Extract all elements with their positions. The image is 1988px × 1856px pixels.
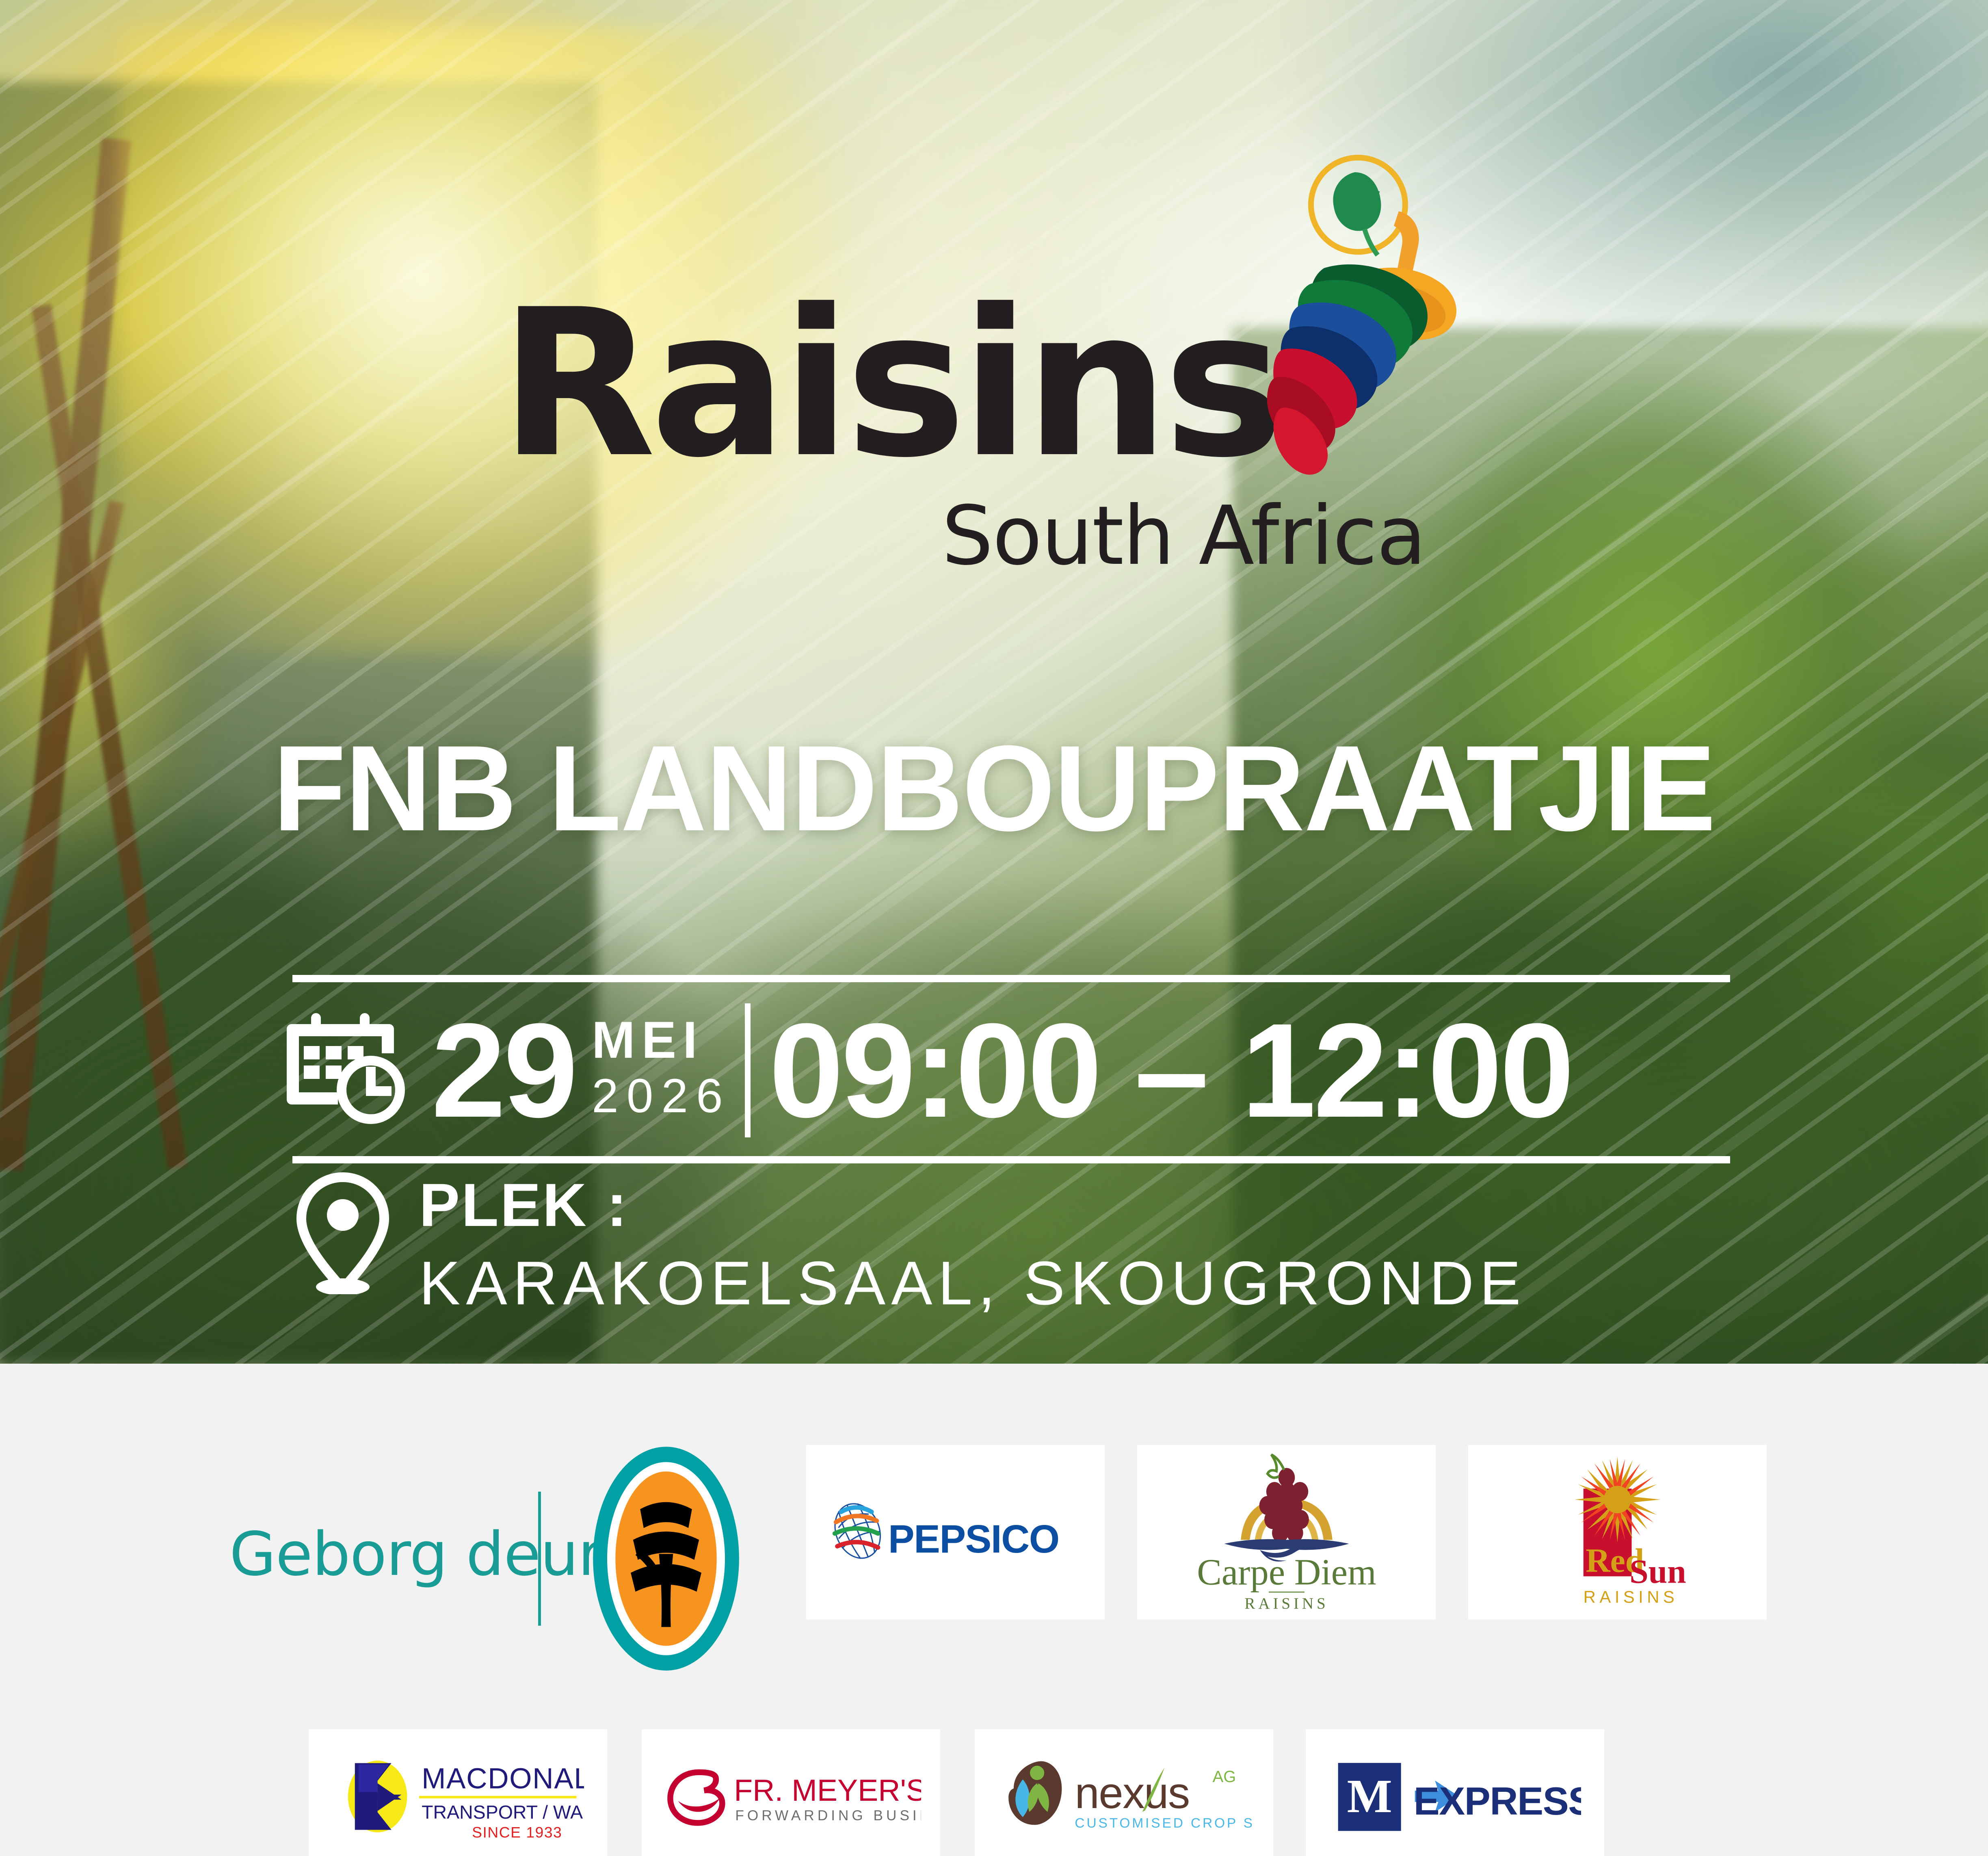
redsun-sunburst-icon <box>1575 1457 1660 1542</box>
macdonalds-wordmark: MACDONALD’S <box>422 1762 584 1795</box>
nexus-leaf-drop-icon <box>1008 1761 1062 1825</box>
redsun-wordmark-sun: Sun <box>1629 1553 1686 1590</box>
location-text: PLEK : KARAKOELSAAL, SKOUGRONDE <box>419 1170 1527 1320</box>
hero-section: Raisins South Africa FNB LANDBOUPRAATJI <box>0 0 1988 1364</box>
location-label: PLEK : <box>419 1173 1527 1237</box>
sponsor-row-1: Geborg deur <box>0 1445 1988 1681</box>
sponsor-card-m-express[interactable]: M EXPRESS <box>1306 1729 1604 1856</box>
carpe-diem-wordmark: Carpe Diem <box>1197 1551 1376 1592</box>
location-value: KARAKOELSAAL, SKOUGRONDE <box>419 1246 1527 1320</box>
m-express-letter: M <box>1347 1770 1392 1823</box>
sponsor-footer: Geborg deur <box>0 1364 1988 1856</box>
sponsor-card-fr-meyers-sohn[interactable]: FR. MEYER'S SOHN FORWARDING BUSINESS <box>642 1729 940 1856</box>
m-express-wordmark: EXPRESS <box>1413 1780 1581 1823</box>
sponsor-card-carpe-diem[interactable]: Carpe Diem RAISINS <box>1137 1445 1436 1620</box>
event-month-year: MEI 2026 <box>592 1009 731 1131</box>
divider-top <box>292 975 1730 982</box>
sponsor-card-macdonalds[interactable]: MACDONALD’S TRANSPORT / WAREHOUSING SINC… <box>309 1729 607 1856</box>
fms-wordmark: FR. MEYER'S SOHN <box>734 1773 921 1807</box>
brand-logo: Raisins South Africa <box>500 154 1507 605</box>
pepsico-wordmark: PEPSICO <box>888 1517 1059 1561</box>
carpe-diem-logo: Carpe Diem RAISINS <box>1191 1449 1382 1615</box>
carpe-diem-grape-arch-icon <box>1224 1455 1349 1561</box>
event-year: 2026 <box>592 1066 731 1126</box>
nexus-ag-logo: nexus AG CUSTOMISED CROP SOLUTIONS <box>994 1757 1254 1835</box>
nexus-tagline: CUSTOMISED CROP SOLUTIONS <box>1075 1816 1254 1831</box>
carpe-diem-tagline: RAISINS <box>1244 1595 1328 1612</box>
redsun-tagline: RAISINS <box>1583 1587 1679 1606</box>
sponsor-card-redsun[interactable]: Red Sun RAISINS <box>1468 1445 1767 1620</box>
page-title: FNB LANDBOUPRAATJIE <box>20 727 1968 849</box>
event-location: PLEK : KARAKOELSAAL, SKOUGRONDE <box>284 1170 1828 1332</box>
datetime-separator <box>745 1003 751 1137</box>
redsun-logo: Red Sun RAISINS <box>1535 1450 1700 1615</box>
macdonalds-d-mark-icon <box>348 1761 407 1832</box>
brand-wordmark: Raisins <box>500 282 1271 485</box>
pepsico-globe-icon <box>827 1497 888 1565</box>
macdonalds-line3: SINCE 1933 <box>472 1824 562 1841</box>
sponsor-card-nexus-ag[interactable]: nexus AG CUSTOMISED CROP SOLUTIONS <box>975 1729 1273 1856</box>
fms-swirl-icon <box>670 1772 722 1823</box>
event-day: 29 <box>431 1011 575 1129</box>
calendar-clock-icon <box>284 1009 406 1131</box>
event-month: MEI <box>592 1014 731 1066</box>
divider-bottom <box>292 1156 1730 1163</box>
sponsor-card-pepsico[interactable]: PEPSICO <box>806 1445 1105 1620</box>
event-time: 09:00 – 12:00 <box>769 1011 1572 1129</box>
nexus-superscript: AG <box>1212 1768 1236 1786</box>
map-pin-icon <box>294 1172 392 1294</box>
pepsico-logo: PEPSICO <box>822 1494 1090 1570</box>
sponsor-intro-label: Geborg deur <box>229 1524 602 1584</box>
nexus-wordmark: nexus <box>1075 1769 1189 1818</box>
fms-tagline: FORWARDING BUSINESS <box>735 1808 921 1824</box>
event-datetime: 29 MEI 2026 09:00 – 12:00 <box>284 987 1746 1154</box>
macdonalds-logo: MACDONALD’S TRANSPORT / WAREHOUSING SINC… <box>332 1749 584 1844</box>
fnb-acacia-tree-logo[interactable] <box>581 1441 751 1676</box>
brand-subtitle: South Africa <box>500 496 1426 577</box>
m-express-logo: M EXPRESS <box>1329 1755 1581 1837</box>
grape-cluster-south-africa-flag-icon <box>1259 154 1478 492</box>
sponsor-divider <box>538 1492 541 1626</box>
event-poster: Raisins South Africa FNB LANDBOUPRAATJI <box>0 0 1988 1856</box>
fr-meyers-sohn-logo: FR. MEYER'S SOHN FORWARDING BUSINESS <box>661 1761 921 1832</box>
sponsor-row-2: MACDONALD’S TRANSPORT / WAREHOUSING SINC… <box>0 1729 1988 1856</box>
macdonalds-line2: TRANSPORT / WAREHOUSING <box>422 1801 584 1822</box>
